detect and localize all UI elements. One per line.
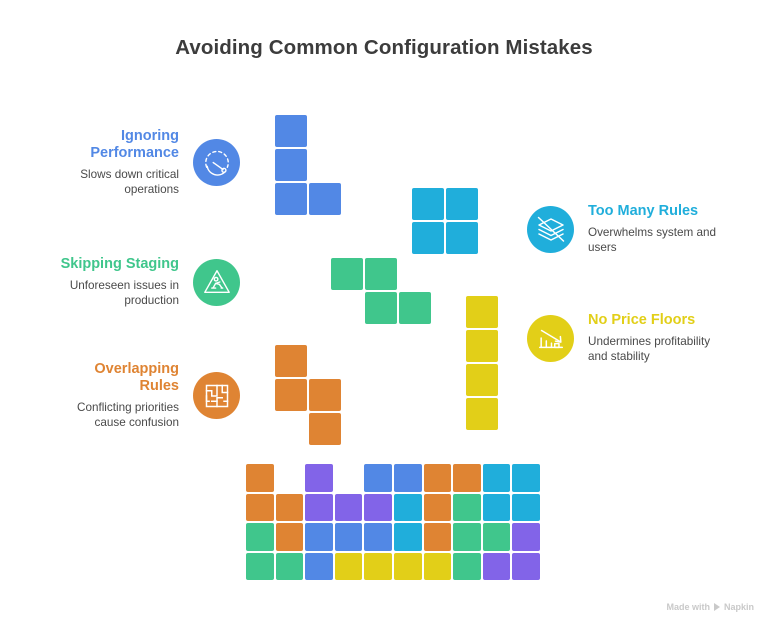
mosaic-cell bbox=[453, 464, 481, 492]
mosaic-cell bbox=[276, 494, 304, 522]
mosaic-cell bbox=[394, 523, 422, 551]
mosaic-cell bbox=[364, 523, 392, 551]
mosaic-cell bbox=[246, 464, 274, 492]
mosaic-cell bbox=[424, 494, 452, 522]
tetromino-cell bbox=[365, 292, 397, 324]
callout-item-no-price-floors[interactable]: No Price FloorsUndermines profitability … bbox=[527, 312, 757, 364]
tetromino-cell bbox=[446, 222, 478, 254]
mosaic-cell bbox=[483, 494, 511, 522]
callout-item-description: Overwhelms system and users bbox=[588, 225, 716, 255]
tetromino-cell bbox=[275, 149, 307, 181]
callout-item-overlapping-rules[interactable]: Overlapping RulesConflicting priorities … bbox=[55, 361, 240, 430]
page-title: Avoiding Common Configuration Mistakes bbox=[0, 36, 768, 60]
tetromino-cell bbox=[466, 330, 498, 362]
mosaic-cell bbox=[246, 553, 274, 581]
mosaic-cell bbox=[512, 494, 540, 522]
callout-item-text: Too Many RulesOverwhelms system and user… bbox=[588, 203, 716, 255]
mosaic-cell bbox=[246, 494, 274, 522]
mosaic-cell bbox=[483, 553, 511, 581]
tetromino-cell bbox=[309, 379, 341, 411]
mosaic-cell bbox=[246, 523, 274, 551]
mosaic-cell bbox=[394, 553, 422, 581]
declining-bar-chart-icon bbox=[527, 315, 574, 362]
mosaic-cell bbox=[453, 553, 481, 581]
mosaic-cell bbox=[276, 553, 304, 581]
tetromino-cell bbox=[275, 345, 307, 377]
mosaic-cell bbox=[512, 523, 540, 551]
callout-item-description: Slows down critical operations bbox=[80, 167, 179, 197]
mosaic-cell bbox=[424, 464, 452, 492]
tetromino-cell bbox=[275, 115, 307, 147]
callout-item-text: No Price FloorsUndermines profitability … bbox=[588, 312, 710, 364]
mosaic-cell bbox=[394, 494, 422, 522]
speedometer-icon bbox=[193, 139, 240, 186]
footer-brand-label: Napkin bbox=[724, 602, 754, 612]
callout-item-text: Overlapping RulesConflicting priorities … bbox=[55, 361, 179, 430]
warning-construction-icon bbox=[193, 259, 240, 306]
mosaic-cell bbox=[453, 494, 481, 522]
mosaic-cell bbox=[276, 523, 304, 551]
mosaic-cell bbox=[483, 523, 511, 551]
stacked-papers-crossed-icon bbox=[527, 206, 574, 253]
callout-item-text: Skipping StagingUnforeseen issues in pro… bbox=[61, 256, 179, 308]
callout-item-title: Ignoring Performance bbox=[90, 128, 179, 162]
mosaic-cell bbox=[364, 464, 392, 492]
callout-item-too-many-rules[interactable]: Too Many RulesOverwhelms system and user… bbox=[527, 203, 757, 255]
mosaic-cell bbox=[335, 553, 363, 581]
tetromino-cell bbox=[399, 292, 431, 324]
tetromino-cell bbox=[275, 379, 307, 411]
callout-item-description: Undermines profitability and stability bbox=[588, 334, 710, 364]
tetromino-cell bbox=[412, 222, 444, 254]
tetromino-cell bbox=[309, 183, 341, 215]
mosaic-cell bbox=[453, 523, 481, 551]
footer-watermark: Made with Napkin bbox=[666, 602, 754, 612]
mosaic-cell bbox=[364, 553, 392, 581]
callout-item-title: Too Many Rules bbox=[588, 203, 698, 220]
mosaic-cell bbox=[335, 494, 363, 522]
mosaic-cell bbox=[394, 464, 422, 492]
tetromino-cell bbox=[275, 183, 307, 215]
mosaic-cell bbox=[305, 494, 333, 522]
callout-item-description: Conflicting priorities cause confusion bbox=[77, 400, 179, 430]
mosaic-cell bbox=[483, 464, 511, 492]
mosaic-cell bbox=[305, 523, 333, 551]
napkin-logo-icon bbox=[714, 603, 720, 611]
tetromino-cell bbox=[466, 296, 498, 328]
mosaic-cell bbox=[512, 464, 540, 492]
callout-item-title: No Price Floors bbox=[588, 312, 695, 329]
mosaic-cell bbox=[424, 553, 452, 581]
diagram-canvas: Avoiding Common Configuration Mistakes I… bbox=[0, 0, 768, 626]
tetromino-cell bbox=[331, 258, 363, 290]
callout-item-skipping-staging[interactable]: Skipping StagingUnforeseen issues in pro… bbox=[55, 256, 240, 308]
callout-item-text: Ignoring PerformanceSlows down critical … bbox=[80, 128, 179, 197]
maze-icon bbox=[193, 372, 240, 419]
callout-item-title: Skipping Staging bbox=[61, 256, 179, 273]
tetromino-cell bbox=[446, 188, 478, 220]
mosaic-cell bbox=[335, 523, 363, 551]
mosaic-cell bbox=[305, 464, 333, 492]
callout-item-title: Overlapping Rules bbox=[55, 361, 179, 395]
footer-made-with-label: Made with bbox=[666, 602, 710, 612]
tetromino-cell bbox=[365, 258, 397, 290]
tetromino-cell bbox=[309, 413, 341, 445]
tetromino-cell bbox=[466, 398, 498, 430]
tetromino-cell bbox=[412, 188, 444, 220]
mosaic-cell bbox=[305, 553, 333, 581]
callout-item-description: Unforeseen issues in production bbox=[70, 278, 179, 308]
tetromino-cell bbox=[466, 364, 498, 396]
mosaic-cell bbox=[424, 523, 452, 551]
callout-item-ignoring-performance[interactable]: Ignoring PerformanceSlows down critical … bbox=[55, 128, 240, 197]
mosaic-cell bbox=[512, 553, 540, 581]
mosaic-cell bbox=[364, 494, 392, 522]
